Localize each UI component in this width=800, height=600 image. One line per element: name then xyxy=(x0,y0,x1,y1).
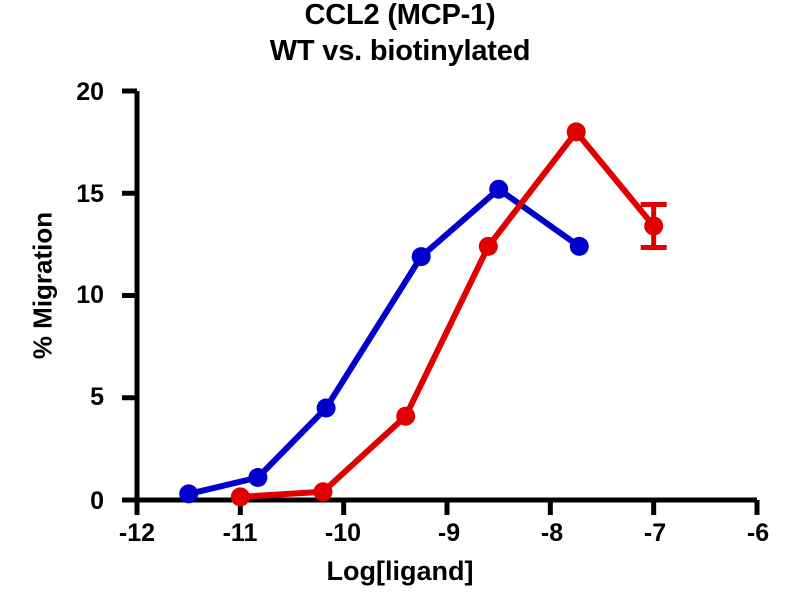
data-point xyxy=(179,484,198,503)
data-point xyxy=(489,180,508,199)
data-point xyxy=(396,407,415,426)
series-line xyxy=(189,189,580,494)
series-line xyxy=(240,132,653,497)
series-wt xyxy=(179,180,589,504)
data-point xyxy=(231,487,250,506)
data-point xyxy=(317,399,336,418)
data-point xyxy=(412,247,431,266)
data-point xyxy=(644,217,663,236)
series-biotinylated xyxy=(231,122,667,506)
data-point xyxy=(248,468,267,487)
data-point xyxy=(570,237,589,256)
data-point xyxy=(567,122,586,141)
axis-lines xyxy=(137,91,757,500)
data-series-layer xyxy=(179,122,666,506)
plot-area xyxy=(0,0,800,600)
chart-figure: CCL2 (MCP-1) WT vs. biotinylated % Migra… xyxy=(0,0,800,600)
data-point xyxy=(314,482,333,501)
data-point xyxy=(479,237,498,256)
